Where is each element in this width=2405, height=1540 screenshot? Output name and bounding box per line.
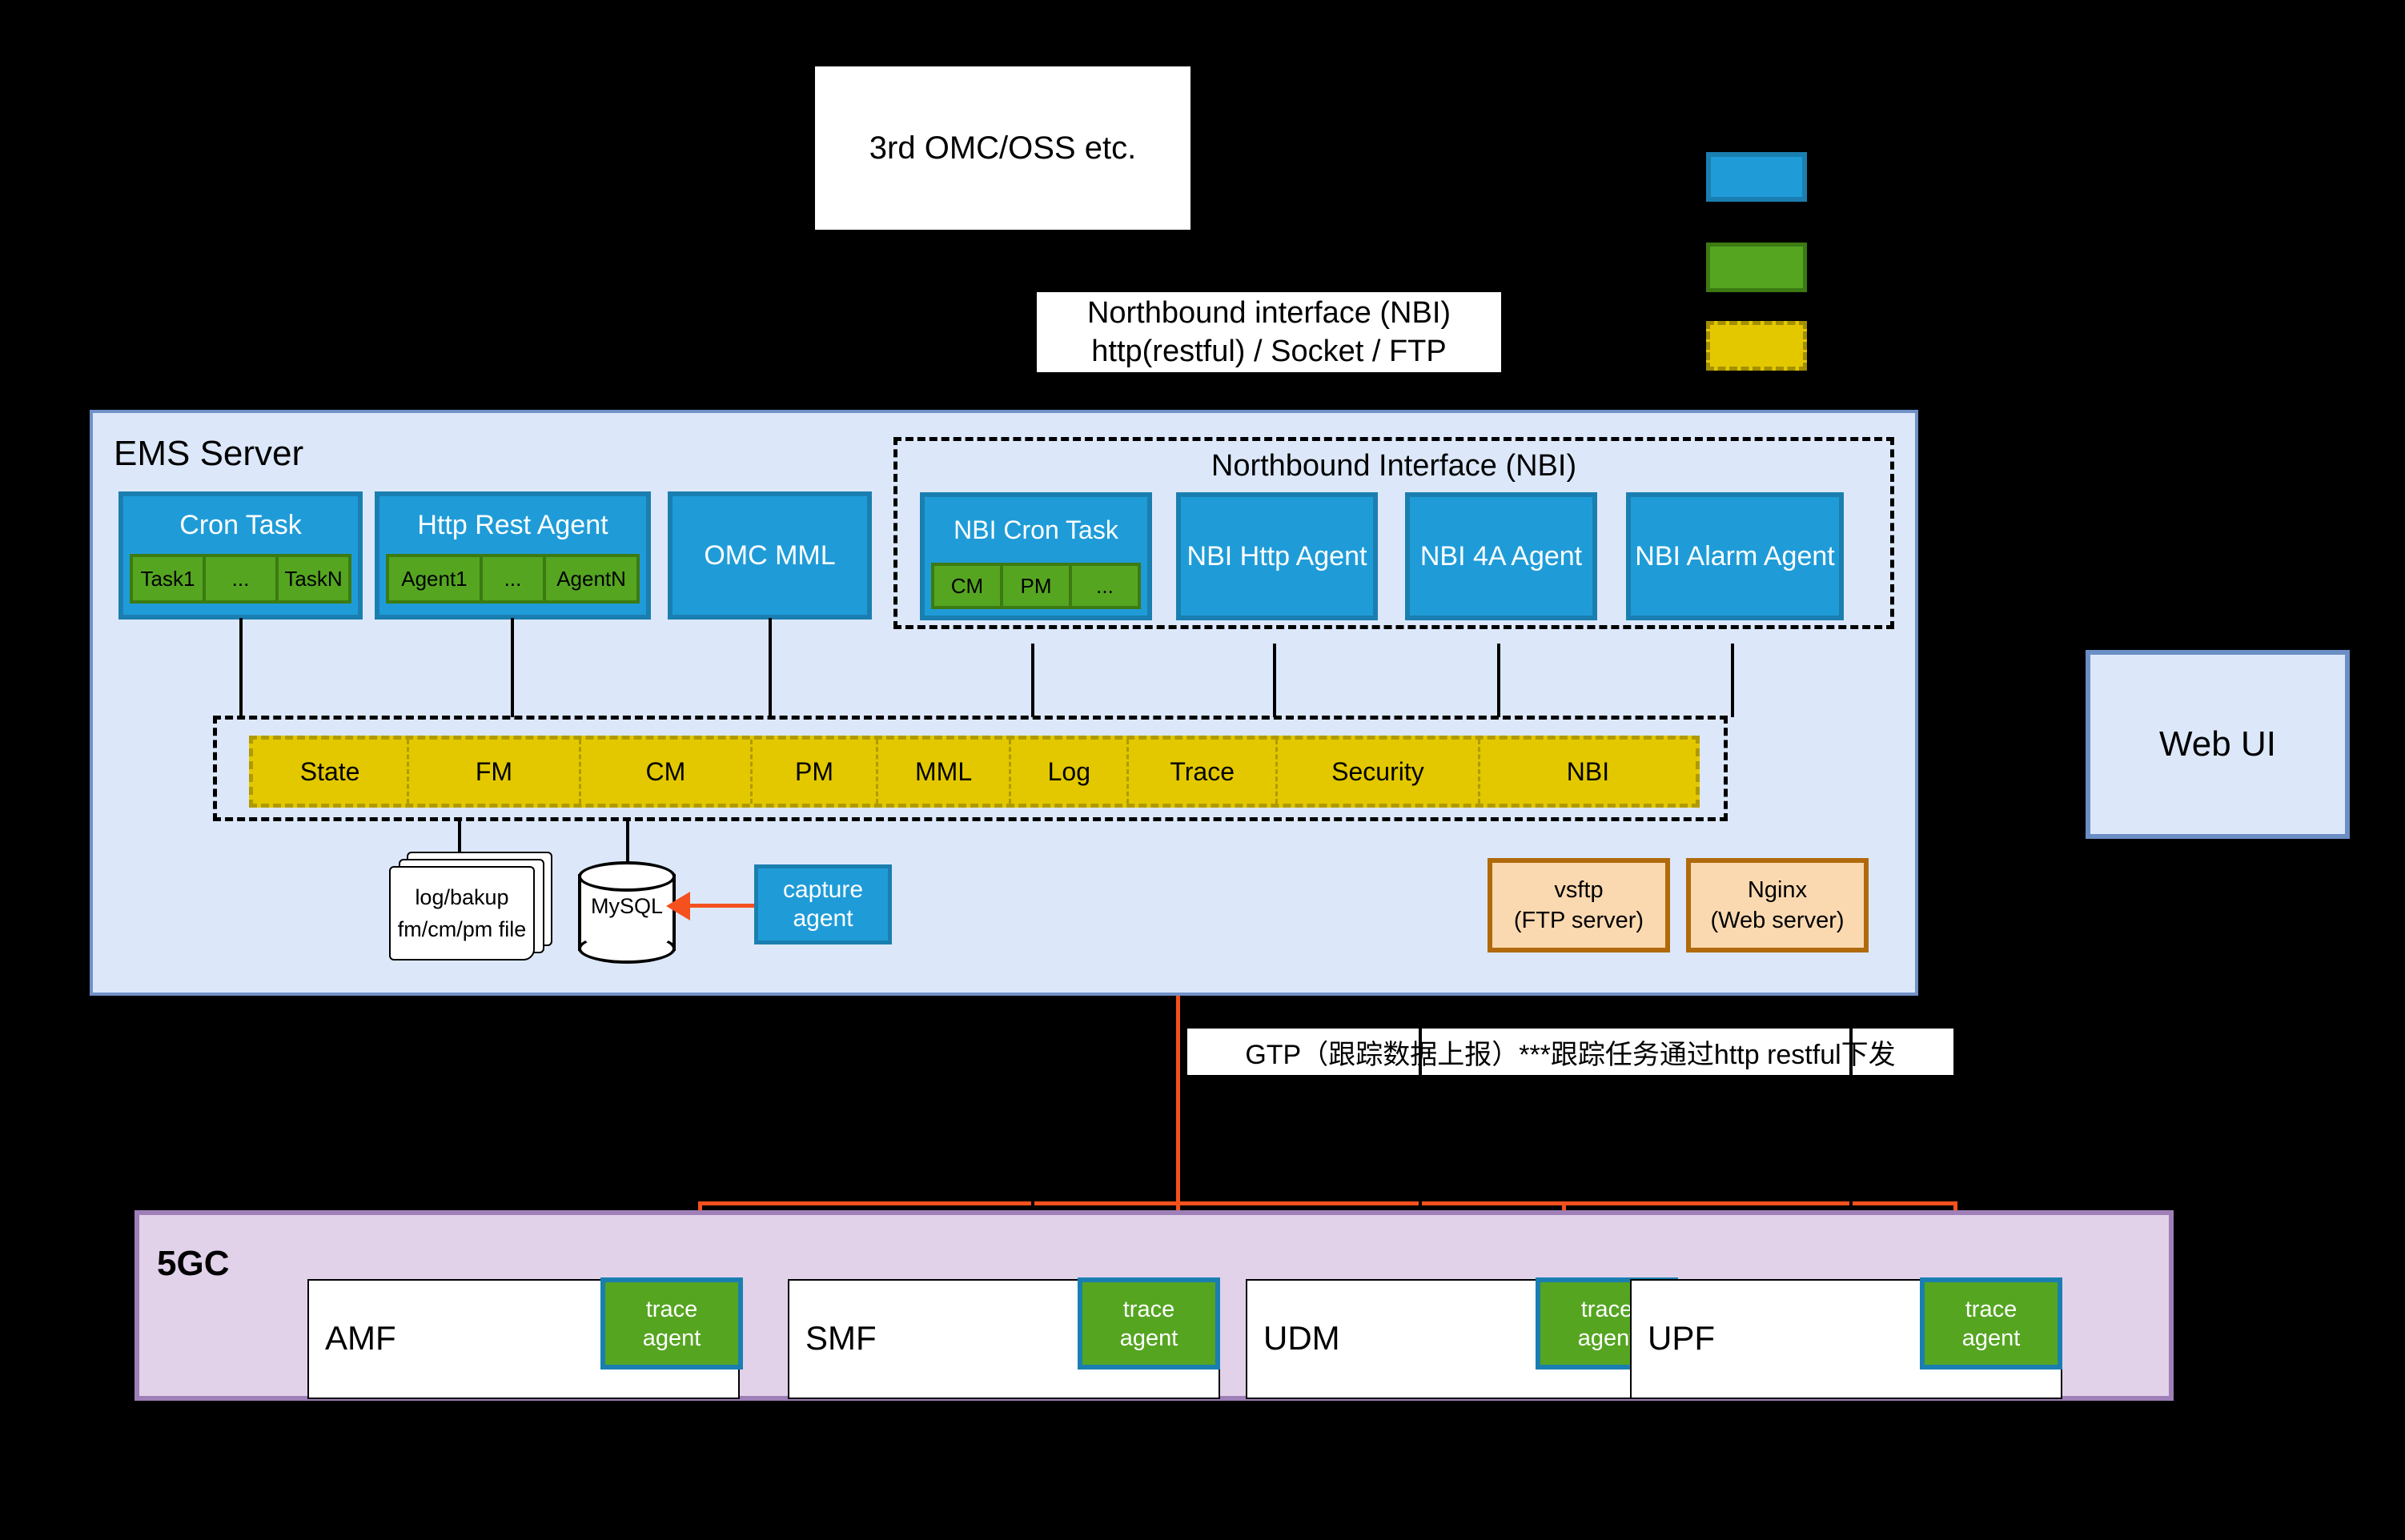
trace-agent-smf[interactable]: trace agent — [1078, 1277, 1220, 1370]
connector-service-to-mysql — [626, 820, 629, 868]
trace-agent-amf-line2: agent — [643, 1324, 701, 1353]
component-cron-task[interactable]: Cron Task Task1 ... TaskN — [118, 491, 363, 620]
trace-agent-upf-line1: trace — [1965, 1295, 2017, 1324]
connector-omc-mml — [769, 618, 772, 717]
cron-task-label: Cron Task — [123, 496, 358, 554]
connector-nbi-4a-agent — [1497, 644, 1500, 717]
component-vsftp-server[interactable]: vsftp (FTP server) — [1488, 858, 1670, 952]
connector-nbi-cron-task — [1031, 644, 1034, 717]
nbi-link-label: Northbound interface (NBI) http(restful)… — [1037, 292, 1501, 372]
connector-omc-to-nbi — [1002, 232, 1004, 416]
nbi-cron-task-label: NBI Cron Task — [925, 497, 1147, 563]
omc-mml-label: OMC MML — [704, 540, 835, 571]
udm-label: UDM — [1263, 1319, 1340, 1358]
capture-agent-line1: capture — [783, 876, 863, 904]
arrow-capture-to-mysql — [685, 904, 754, 908]
component-nbi-http-agent[interactable]: NBI Http Agent — [1176, 492, 1378, 620]
cron-task-child-ellipsis: ... — [206, 554, 279, 604]
service-security[interactable]: Security — [1278, 740, 1480, 804]
database-label: MySQL — [578, 890, 676, 922]
nbi-cron-task-child-pm: PM — [1003, 563, 1072, 609]
nbi-link-label-line1: Northbound interface (NBI) — [1087, 294, 1451, 332]
trace-agent-upf-line2: agent — [1962, 1324, 2021, 1353]
green-swatch-icon — [1706, 243, 1807, 292]
yellow-swatch-icon — [1706, 321, 1807, 371]
service-state[interactable]: State — [253, 740, 409, 804]
component-omc-mml[interactable]: OMC MML — [668, 491, 872, 620]
component-capture-agent[interactable]: capture agent — [754, 864, 892, 944]
component-http-rest-agent[interactable]: Http Rest Agent Agent1 ... AgentN — [375, 491, 651, 620]
nbi-group: Northbound Interface (NBI) NBI Cron Task… — [893, 437, 1894, 629]
connector-http-rest-agent — [511, 618, 514, 717]
ems-server-panel: EMS Server Cron Task Task1 ... TaskN Htt… — [90, 410, 1918, 996]
service-pm[interactable]: PM — [753, 740, 878, 804]
vsftp-line1: vsftp — [1554, 875, 1603, 905]
connector-nbi-http-agent — [1273, 644, 1276, 717]
service-nbi[interactable]: NBI — [1480, 740, 1696, 804]
upf-label: UPF — [1648, 1319, 1715, 1358]
service-trace[interactable]: Trace — [1129, 740, 1278, 804]
service-fm[interactable]: FM — [409, 740, 580, 804]
ems-server-title: EMS Server — [114, 434, 303, 474]
nginx-line1: Nginx — [1748, 875, 1807, 905]
trace-agent-smf-line2: agent — [1120, 1324, 1178, 1353]
service-bar: State FM CM PM MML Log Trace Security NB… — [249, 736, 1700, 808]
nbi-link-label-line2: http(restful) / Socket / FTP — [1091, 332, 1446, 371]
capture-agent-line2: agent — [793, 904, 853, 933]
nbi-4a-agent-label: NBI 4A Agent — [1420, 538, 1582, 575]
http-rest-agent-child-agent1: Agent1 — [386, 554, 483, 604]
nbi-cron-task-child-cm: CM — [931, 563, 1003, 609]
http-rest-agent-child-ellipsis: ... — [483, 554, 546, 604]
amf-label: AMF — [325, 1319, 396, 1358]
cron-task-child-taskn: TaskN — [279, 554, 351, 604]
trace-agent-amf[interactable]: trace agent — [600, 1277, 743, 1370]
trace-agent-udm-line2: agent — [1578, 1324, 1636, 1353]
trace-agent-upf[interactable]: trace agent — [1920, 1277, 2062, 1370]
service-bar-container: State FM CM PM MML Log Trace Security NB… — [213, 716, 1728, 821]
cron-task-child-task1: Task1 — [130, 554, 206, 604]
service-log[interactable]: Log — [1011, 740, 1129, 804]
orange-trunk-vertical — [1176, 996, 1180, 1205]
gtp-note-text: GTP（跟踪数据上报）***跟踪任务通过http restful下发 — [1245, 1033, 1895, 1072]
trace-agent-smf-line1: trace — [1123, 1295, 1174, 1324]
nbi-http-agent-label: NBI Http Agent — [1187, 538, 1367, 575]
web-ui-label: Web UI — [2159, 724, 2276, 764]
third-party-omc-oss-box: 3rd OMC/OSS etc. — [813, 64, 1193, 232]
core-network-title: 5GC — [157, 1244, 229, 1284]
trace-agent-amf-line1: trace — [646, 1295, 697, 1324]
vsftp-line2: (FTP server) — [1514, 905, 1644, 936]
orange-bus-horizontal — [700, 1201, 1957, 1205]
connector-nbi-alarm-agent — [1731, 644, 1734, 717]
core-network-panel-5gc: 5GC AMF trace agent SMF trace agent UDM … — [135, 1210, 2174, 1401]
web-ui-box[interactable]: Web UI — [2086, 650, 2350, 839]
service-cm[interactable]: CM — [581, 740, 753, 804]
file-store-label: log/bakup fm/cm/pm file — [389, 866, 535, 960]
http-rest-agent-label: Http Rest Agent — [379, 496, 646, 554]
blue-swatch-icon — [1706, 152, 1807, 202]
connector-cron-task — [239, 618, 243, 717]
nbi-cron-task-child-ellipsis: ... — [1072, 563, 1141, 609]
component-nbi-alarm-agent[interactable]: NBI Alarm Agent — [1626, 492, 1844, 620]
nbi-group-title: Northbound Interface (NBI) — [897, 441, 1890, 491]
trace-agent-udm-line1: trace — [1581, 1295, 1632, 1324]
gtp-note-label: GTP（跟踪数据上报）***跟踪任务通过http restful下发 — [1187, 1029, 1953, 1075]
http-rest-agent-child-agentn: AgentN — [546, 554, 640, 604]
file-store-line1: log/bakup — [415, 881, 508, 913]
file-store-line2: fm/cm/pm file — [398, 913, 527, 945]
smf-label: SMF — [805, 1319, 877, 1358]
component-nbi-4a-agent[interactable]: NBI 4A Agent — [1405, 492, 1597, 620]
nbi-alarm-agent-label: NBI Alarm Agent — [1635, 538, 1834, 575]
component-nbi-cron-task[interactable]: NBI Cron Task CM PM ... — [920, 492, 1152, 620]
nginx-line2: (Web server) — [1710, 905, 1844, 936]
third-party-omc-oss-label: 3rd OMC/OSS etc. — [869, 130, 1136, 166]
service-mml[interactable]: MML — [878, 740, 1011, 804]
component-nginx-server[interactable]: Nginx (Web server) — [1686, 858, 1869, 952]
